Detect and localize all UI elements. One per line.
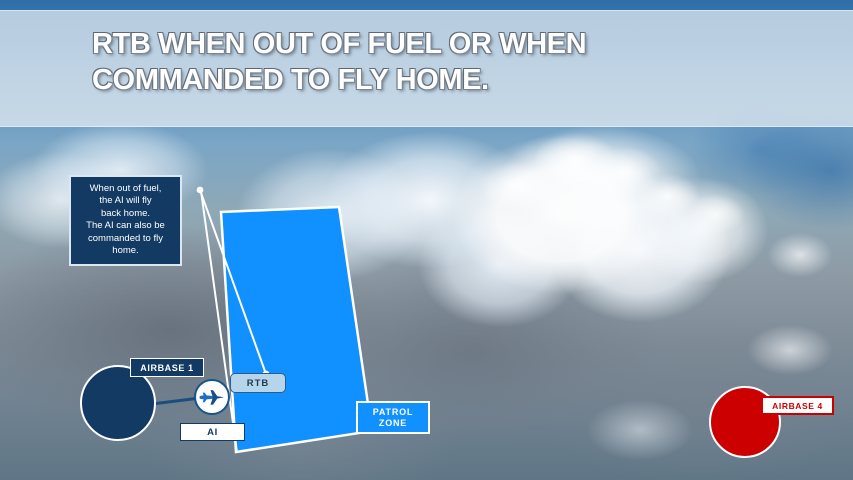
patrol-zone-label-line-1: PATROL xyxy=(373,407,413,418)
aircraft-marker[interactable] xyxy=(194,379,230,415)
title-line-1: RTB WHEN OUT OF FUEL OR WHEN xyxy=(92,26,792,62)
ai-label[interactable]: AI xyxy=(180,423,245,441)
callout-line-3: back home. xyxy=(75,208,176,220)
callout-line-2: the AI will fly xyxy=(75,195,176,207)
patrol-zone-label[interactable]: PATROL ZONE xyxy=(356,401,430,434)
airbase-4-label[interactable]: AIRBASE 4 xyxy=(761,396,834,415)
rtb-label[interactable]: RTB xyxy=(230,373,286,393)
slide-canvas: RTB WHEN OUT OF FUEL OR WHEN COMMANDED T… xyxy=(0,0,853,480)
airbase-1-label[interactable]: AIRBASE 1 xyxy=(130,358,204,377)
title-line-2: COMMANDED TO FLY HOME. xyxy=(92,62,792,98)
patrol-zone-label-line-2: ZONE xyxy=(379,418,407,429)
callout-line-1: When out of fuel, xyxy=(75,183,176,195)
callout-box: When out of fuel, the AI will fly back h… xyxy=(69,175,182,266)
page-title: RTB WHEN OUT OF FUEL OR WHEN COMMANDED T… xyxy=(92,26,792,98)
callout-line-5: commanded to fly home. xyxy=(75,233,176,258)
fighter-jet-icon xyxy=(199,387,226,408)
callout-line-4: The AI can also be xyxy=(75,220,176,232)
